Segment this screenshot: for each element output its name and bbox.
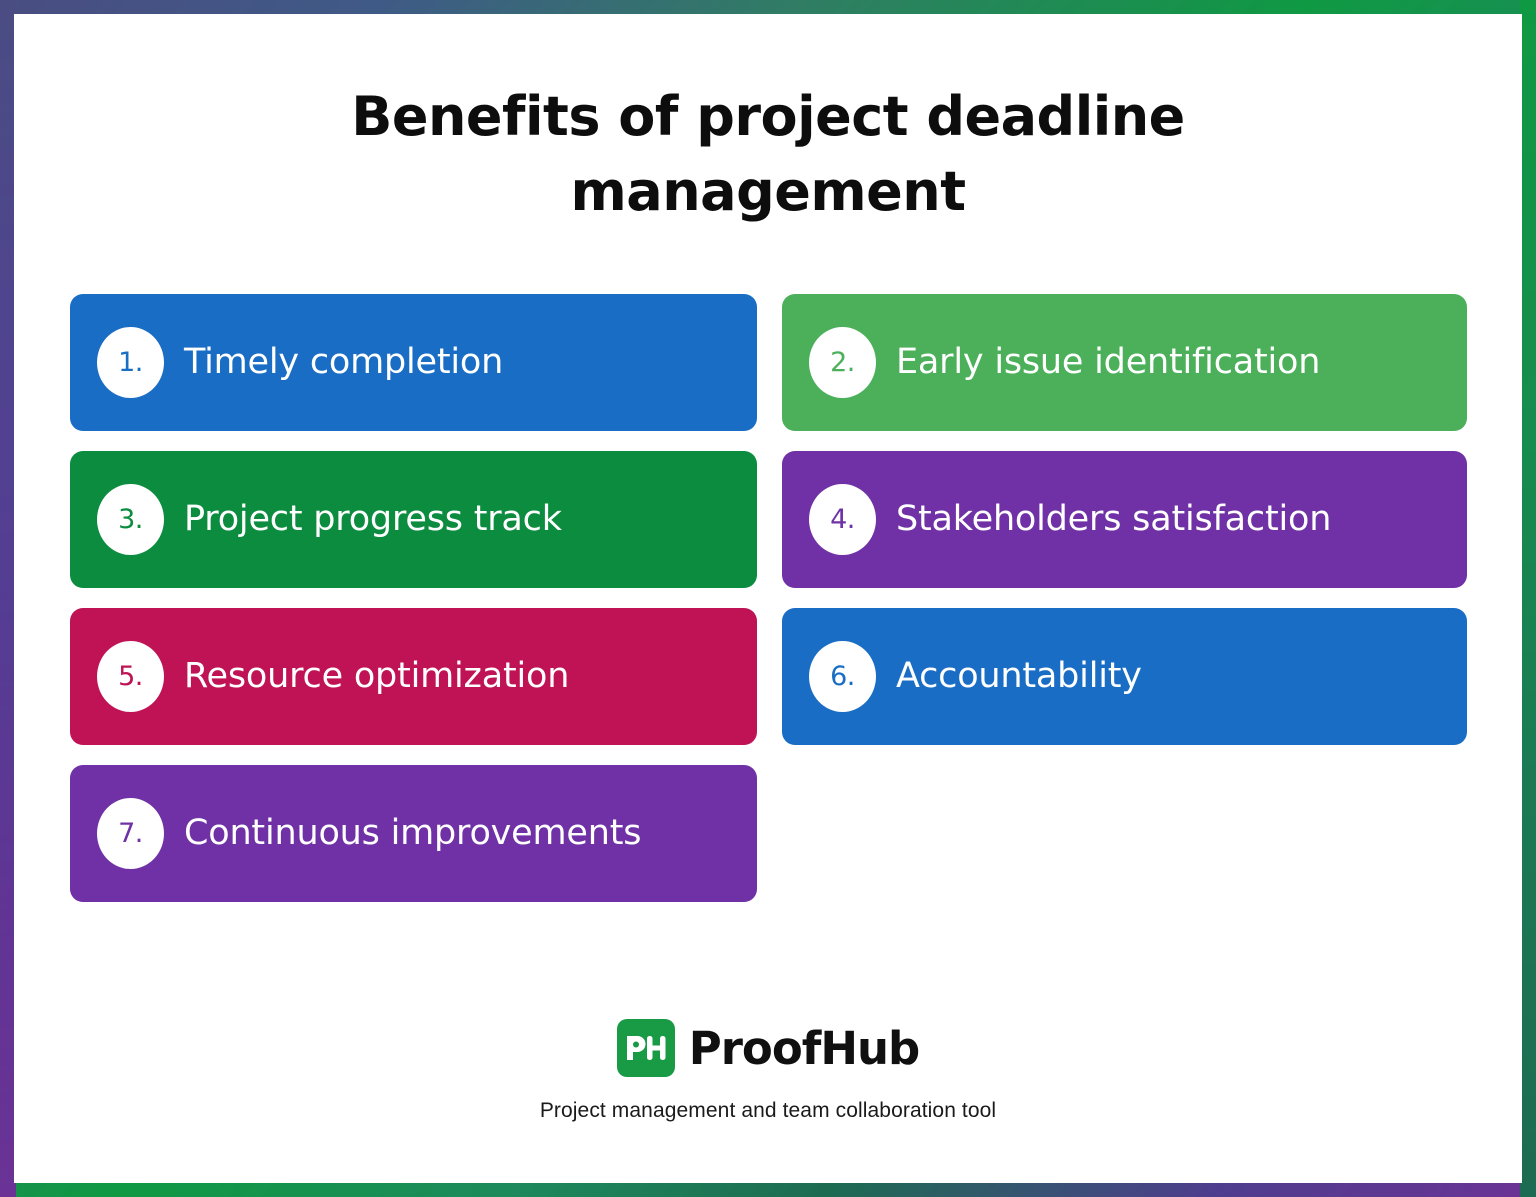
benefit-label-1: Timely completion xyxy=(184,342,503,382)
benefit-label-6: Accountability xyxy=(896,656,1142,696)
benefit-number-badge-7: 7. xyxy=(97,798,164,869)
benefit-card-1[interactable]: 1. Timely completion xyxy=(70,294,757,431)
benefit-card-3[interactable]: 3. Project progress track xyxy=(70,451,757,588)
footer: ProofHub Project management and team col… xyxy=(14,1019,1522,1123)
benefit-number-badge-3: 3. xyxy=(97,484,164,555)
infographic-canvas: Benefits of project deadline management … xyxy=(0,0,1536,1197)
infographic-page: Benefits of project deadline management … xyxy=(14,14,1522,1183)
brand-logo[interactable]: ProofHub xyxy=(617,1019,920,1077)
benefit-number-badge-1: 1. xyxy=(97,327,164,398)
benefit-label-7: Continuous improvements xyxy=(184,813,641,853)
benefits-grid: 1. Timely completion 2. Early issue iden… xyxy=(70,294,1487,902)
benefit-card-2[interactable]: 2. Early issue identification xyxy=(782,294,1467,431)
benefit-card-6[interactable]: 6. Accountability xyxy=(782,608,1467,745)
brand-name: ProofHub xyxy=(689,1026,920,1071)
benefit-card-4[interactable]: 4. Stakeholders satisfaction xyxy=(782,451,1467,588)
proofhub-logo-icon xyxy=(617,1019,675,1077)
benefit-number-badge-4: 4. xyxy=(809,484,876,555)
benefit-label-2: Early issue identification xyxy=(896,342,1320,382)
page-title: Benefits of project deadline management xyxy=(14,80,1522,229)
benefit-number-badge-5: 5. xyxy=(97,641,164,712)
benefit-label-5: Resource optimization xyxy=(184,656,569,696)
grid-empty-slot xyxy=(782,765,1467,902)
benefit-number-badge-2: 2. xyxy=(809,327,876,398)
benefit-label-4: Stakeholders satisfaction xyxy=(896,499,1331,539)
benefit-label-3: Project progress track xyxy=(184,499,562,539)
benefit-card-5[interactable]: 5. Resource optimization xyxy=(70,608,757,745)
benefit-number-badge-6: 6. xyxy=(809,641,876,712)
brand-tagline: Project management and team collaboratio… xyxy=(540,1099,996,1123)
benefit-card-7[interactable]: 7. Continuous improvements xyxy=(70,765,757,902)
